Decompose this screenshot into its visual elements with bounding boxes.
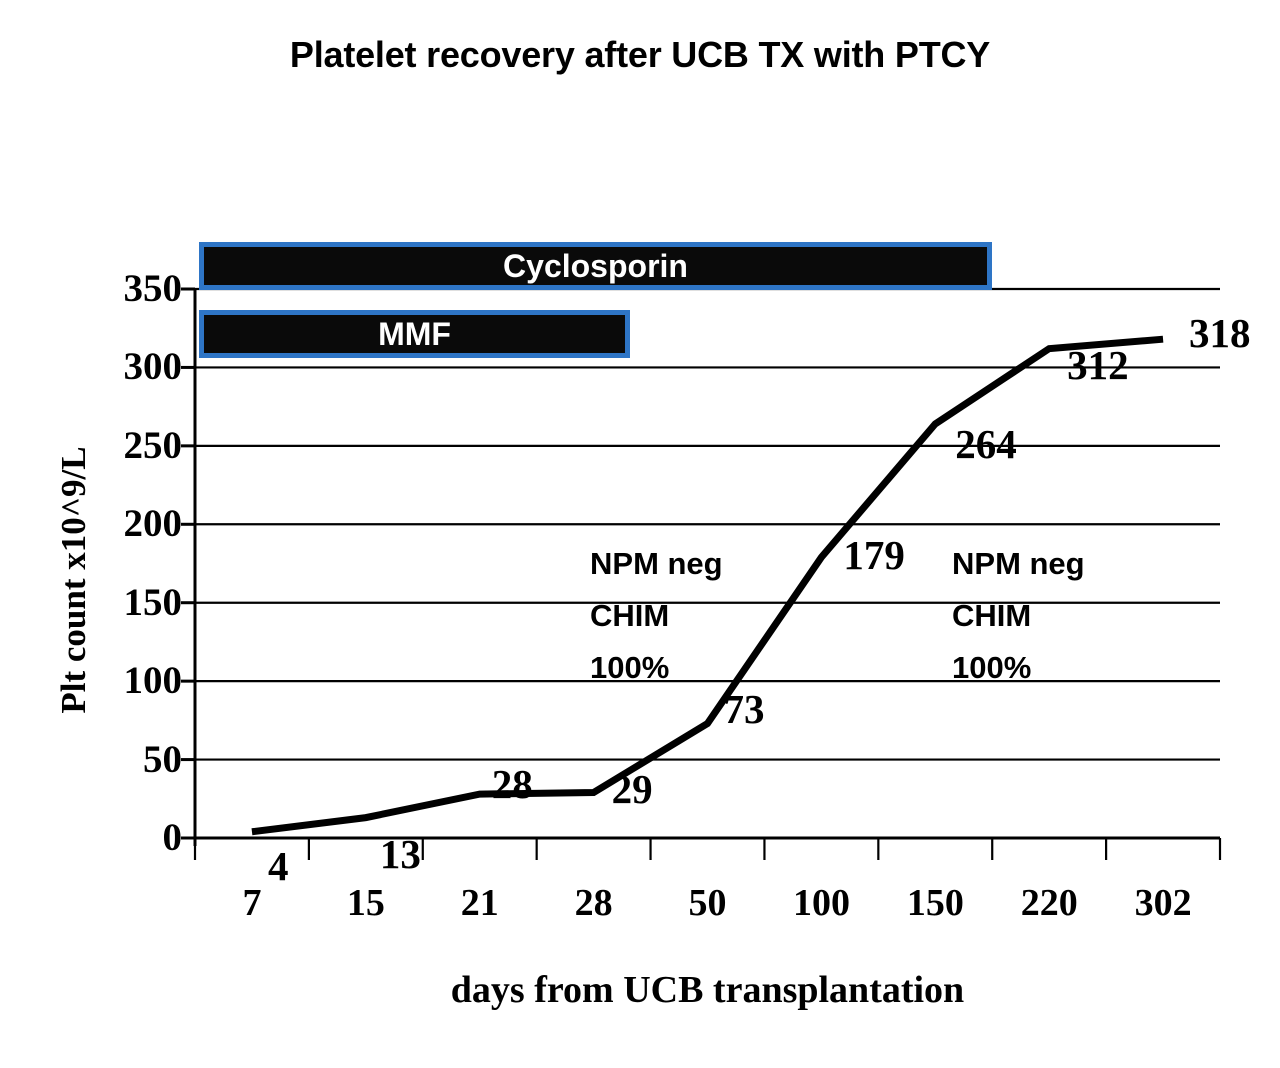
annotation-chimerism-right: NPM neg CHIM 100% <box>952 538 1085 694</box>
y-tick-label: 100 <box>52 661 182 700</box>
x-tick-label: 150 <box>878 884 992 922</box>
y-tick-label: 200 <box>52 504 182 543</box>
x-tick-label: 7 <box>195 884 309 922</box>
data-point-label: 73 <box>724 689 765 730</box>
annotation-right-line1: NPM neg <box>952 538 1085 590</box>
annotation-left-line3: 100% <box>590 642 723 694</box>
y-tick-label: 50 <box>52 740 182 779</box>
platelet-recovery-chart: Platelet recovery after UCB TX with PTCY… <box>0 0 1280 1068</box>
x-tick-label: 220 <box>992 884 1106 922</box>
annotation-left-line1: NPM neg <box>590 538 723 590</box>
data-point-label: 4 <box>268 846 289 887</box>
data-point-label: 179 <box>843 535 905 576</box>
annotation-right-line3: 100% <box>952 642 1085 694</box>
treatment-bar-cyclosporin: Cyclosporin <box>199 242 992 290</box>
y-tick-label: 300 <box>52 347 182 386</box>
y-axis-ticks <box>181 289 195 838</box>
y-tick-label: 150 <box>52 583 182 622</box>
x-tick-label: 28 <box>537 884 651 922</box>
annotation-right-line2: CHIM <box>952 590 1085 642</box>
annotation-left-line2: CHIM <box>590 590 723 642</box>
data-point-label: 312 <box>1067 345 1129 386</box>
data-point-label: 29 <box>612 769 653 810</box>
y-tick-label: 0 <box>52 818 182 857</box>
x-tick-label: 50 <box>651 884 765 922</box>
x-axis-ticks <box>195 838 1220 860</box>
x-tick-label: 302 <box>1106 884 1220 922</box>
y-tick-label: 250 <box>52 426 182 465</box>
data-point-label: 318 <box>1189 313 1251 354</box>
data-point-label: 13 <box>380 834 421 875</box>
treatment-bar-mmf: MMF <box>199 310 630 358</box>
annotation-chimerism-left: NPM neg CHIM 100% <box>590 538 723 694</box>
treatment-bar-cyclosporin-label: Cyclosporin <box>503 248 688 285</box>
data-point-label: 264 <box>955 424 1017 465</box>
x-tick-label: 21 <box>423 884 537 922</box>
y-tick-label: 350 <box>52 269 182 308</box>
x-tick-label: 100 <box>764 884 878 922</box>
x-tick-label: 15 <box>309 884 423 922</box>
data-point-label: 28 <box>492 764 533 805</box>
treatment-bar-mmf-label: MMF <box>378 316 451 353</box>
